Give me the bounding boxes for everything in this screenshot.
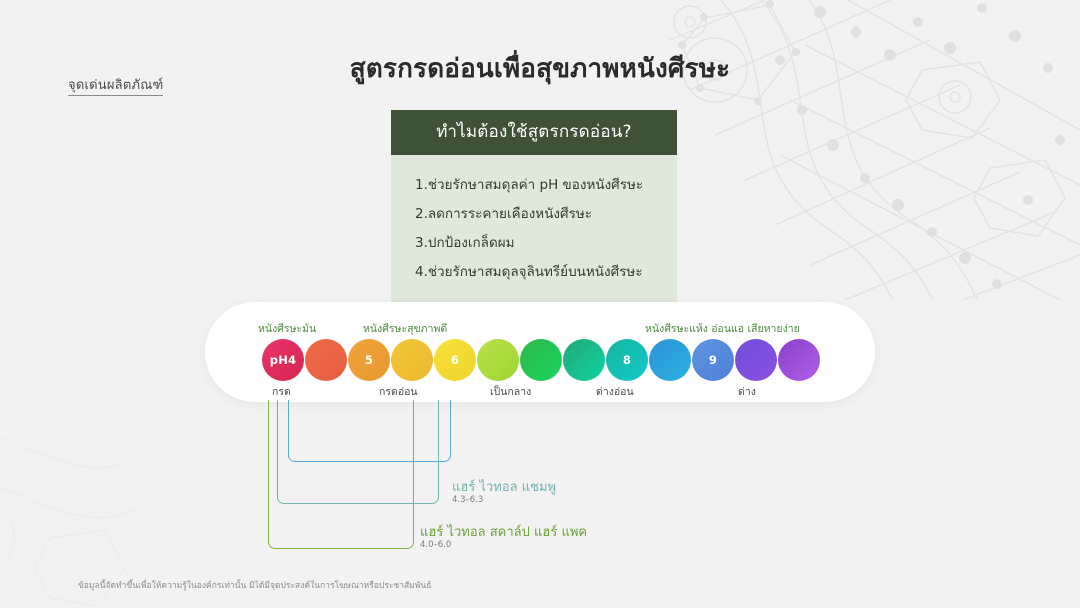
footer-disclaimer: ข้อมูลนี้จัดทำขึ้นเพื่อให้ความรู้ในองค์ก…	[78, 578, 431, 592]
info-card-item: 1.ช่วยรักษาสมดุลค่า pH ของหนังศีรษะ	[415, 171, 677, 200]
info-card-body: 1.ช่วยรักษาสมดุลค่า pH ของหนังศีรษะ2.ลดก…	[391, 155, 677, 304]
ph-zone-label: เป็นกลาง	[490, 383, 531, 400]
ph-zone-caption: หนังศีรษะสุขภาพดี	[363, 320, 447, 337]
ph-circle-5	[477, 339, 519, 381]
ph-circle-1	[305, 339, 347, 381]
ph-circle-6	[520, 339, 562, 381]
ph-circle-11	[735, 339, 777, 381]
info-card-item: 3.ปกป้องเกล็ดผม	[415, 229, 677, 258]
page-title: สูตรกรดอ่อนเพื่อสุขภาพหนังศีรษะ	[0, 48, 1080, 89]
ph-zone-label: ด่างอ่อน	[596, 383, 634, 400]
slide-root: จุดเด่นผลิตภัณฑ์ สูตรกรดอ่อนเพื่อสุขภาพห…	[0, 0, 1080, 608]
ph-circle-9: 9	[692, 339, 734, 381]
ph-circle-7	[563, 339, 605, 381]
product-ph-range: 4.0–6.0	[420, 540, 451, 550]
bracket-green	[268, 400, 414, 549]
ph-circle-5: 5	[348, 339, 390, 381]
ph-zone-label: กรด	[272, 383, 291, 400]
ph-zone-label: ด่าง	[738, 383, 756, 400]
ph-circle-ph4: pH4	[262, 339, 304, 381]
ph-circle-6: 6	[434, 339, 476, 381]
product-name-label: แฮร์ ไวทอล สคาล์ป แฮร์ แพค	[420, 521, 587, 542]
bracket-teal	[277, 400, 439, 504]
product-name-label: แฮร์ ไวทอล แชมพู	[452, 476, 556, 497]
bracket-blue	[288, 400, 451, 462]
ph-zone-caption: หนังศีรษะมัน	[258, 320, 316, 337]
ph-circle-3	[391, 339, 433, 381]
product-ph-range: 4.3–6.3	[452, 495, 483, 505]
eyebrow-underline	[68, 95, 163, 96]
ph-zone-label: กรดอ่อน	[379, 383, 418, 400]
info-card: ทำไมต้องใช้สูตรกรดอ่อน? 1.ช่วยรักษาสมดุล…	[391, 110, 677, 304]
ph-zone-caption: หนังศีรษะแห้ง อ่อนแอ เสียหายง่าย	[645, 320, 800, 337]
ph-circle-row: pH45689	[262, 339, 818, 383]
ph-circle-12	[778, 339, 820, 381]
dna-helix-background-icon	[660, 0, 1080, 300]
ph-circle-9	[649, 339, 691, 381]
ph-circle-8: 8	[606, 339, 648, 381]
info-card-header: ทำไมต้องใช้สูตรกรดอ่อน?	[391, 110, 677, 155]
info-card-item: 2.ลดการระคายเคืองหนังศีรษะ	[415, 200, 677, 229]
molecular-background-bottom-icon	[0, 388, 260, 608]
info-card-item: 4.ช่วยรักษาสมดุลจุลินทรีย์บนหนังศีรษะ	[415, 258, 677, 287]
